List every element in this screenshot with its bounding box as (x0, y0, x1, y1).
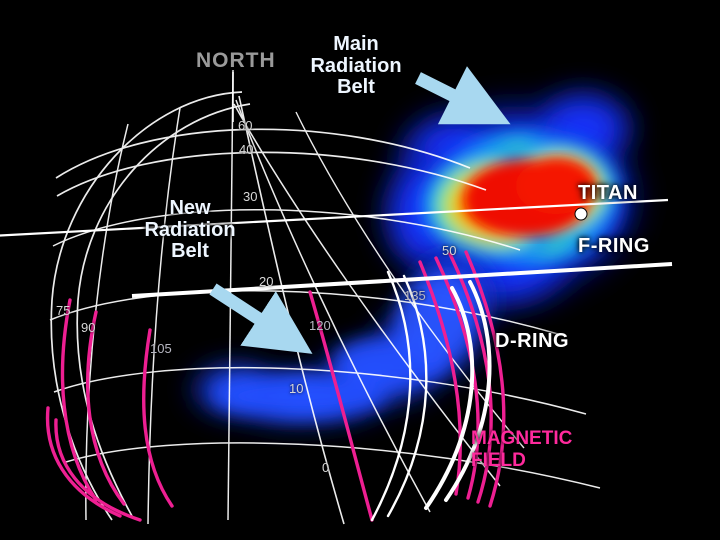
grid-tick-60: 60 (238, 118, 252, 133)
grid-tick-120: 120 (309, 318, 331, 333)
grid-tick-40: 40 (239, 142, 253, 157)
titan-marker-dot (575, 208, 587, 220)
north-pole-label: NORTH (196, 50, 276, 73)
titan-label: TITAN (578, 183, 638, 205)
main-radiation-belt-label: Main Radiation Belt (300, 34, 412, 99)
magnetic-field-label: MAGNETIC FIELD (471, 428, 572, 472)
f-ring-label: F-RING (578, 236, 650, 258)
new-radiation-belt-label: New Radiation Belt (133, 198, 247, 263)
d-ring-label: D-RING (495, 331, 569, 353)
grid-tick-0: 0 (322, 460, 329, 475)
grid-tick-75: 75 (56, 303, 70, 318)
figure-canvas: NORTH Main Radiation Belt New Radiation … (0, 0, 720, 540)
grid-tick-20: 20 (259, 274, 273, 289)
grid-tick-30: 30 (243, 189, 257, 204)
grid-tick-105: 105 (150, 341, 172, 356)
grid-tick-50: 50 (442, 243, 456, 258)
grid-tick-90: 90 (81, 320, 95, 335)
grid-tick-135: 135 (404, 288, 426, 303)
grid-tick-10: 10 (289, 381, 303, 396)
